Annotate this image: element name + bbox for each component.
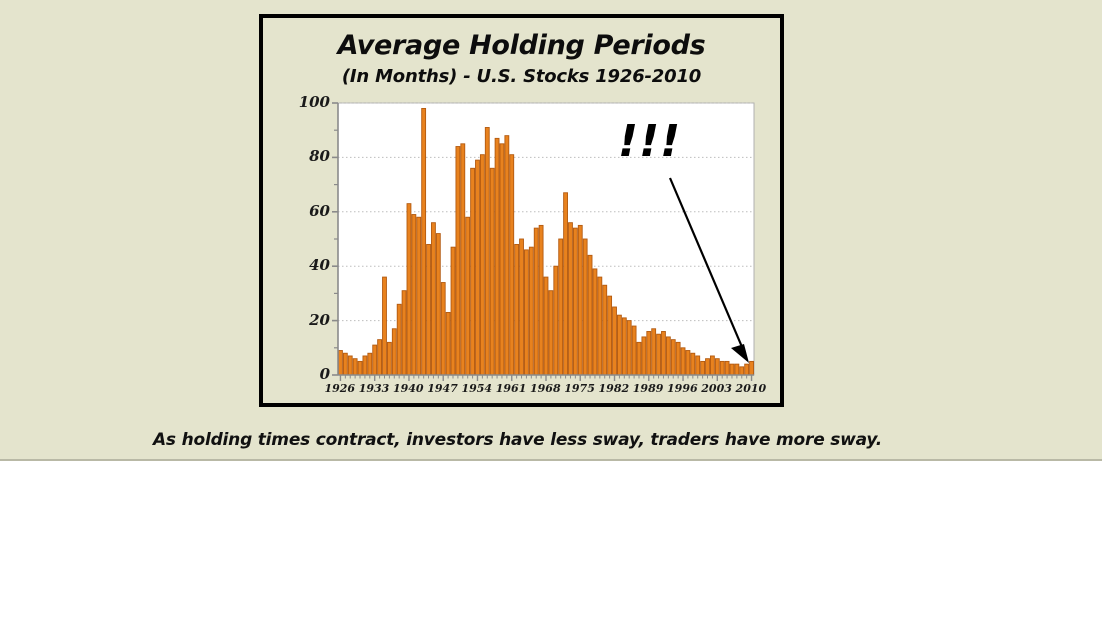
x-tick-1989: 1989 — [633, 382, 664, 395]
y-tick-60: 60 — [286, 202, 330, 220]
x-tick-1954: 1954 — [461, 382, 492, 395]
y-tick-100: 100 — [286, 93, 330, 111]
x-tick-1982: 1982 — [599, 382, 630, 395]
x-tick-2003: 2003 — [701, 382, 732, 395]
y-tick-40: 40 — [286, 256, 330, 274]
plot-area: 020406080100 192619331940194719541961196… — [263, 18, 780, 403]
x-tick-1933: 1933 — [359, 382, 390, 395]
lower-white-area — [0, 461, 1102, 617]
x-tick-2010: 2010 — [736, 382, 767, 395]
exclamation-annotation: !!! — [618, 116, 681, 167]
screenshot-root: Average Holding Periods (In Months) - U.… — [0, 0, 1102, 617]
x-tick-1996: 1996 — [667, 382, 698, 395]
x-tick-1975: 1975 — [564, 382, 595, 395]
x-tick-1926: 1926 — [324, 382, 355, 395]
chart-figure-frame: Average Holding Periods (In Months) - U.… — [259, 14, 784, 407]
x-tick-1947: 1947 — [427, 382, 458, 395]
x-tick-1968: 1968 — [530, 382, 561, 395]
x-tick-1940: 1940 — [393, 382, 424, 395]
figure-caption: As holding times contract, investors hav… — [0, 430, 1035, 450]
y-tick-0: 0 — [286, 365, 330, 383]
y-tick-20: 20 — [286, 311, 330, 329]
y-tick-80: 80 — [286, 147, 330, 165]
bar-chart-svg — [263, 18, 780, 403]
x-tick-1961: 1961 — [496, 382, 527, 395]
